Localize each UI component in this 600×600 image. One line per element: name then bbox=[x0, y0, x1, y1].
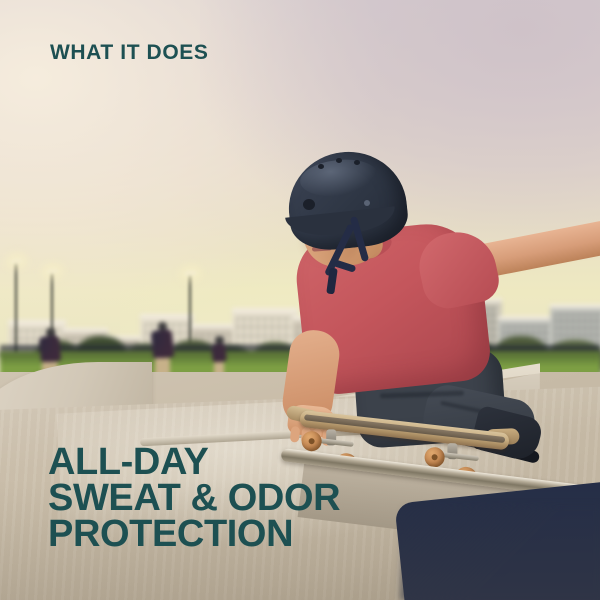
helmet-vent-icon bbox=[318, 164, 324, 169]
helmet-rivet-icon bbox=[364, 200, 370, 206]
page-title: ALL-DAYSWEAT & ODORPROTECTION bbox=[48, 444, 340, 552]
headline-line-3: PROTECTION bbox=[48, 516, 340, 552]
helmet-vent-icon bbox=[303, 199, 315, 210]
wheel-hub bbox=[431, 454, 438, 461]
ad-creative-canvas: WHAT IT DOES ALL-DAYSWEAT & ODORPROTECTI… bbox=[0, 0, 600, 600]
helmet-vent-icon bbox=[336, 158, 342, 163]
helmet-vent-icon bbox=[354, 160, 360, 165]
eyebrow-label: WHAT IT DOES bbox=[50, 42, 208, 63]
headline-line-1: ALL-DAY bbox=[48, 444, 340, 480]
headline-line-2: SWEAT & ODOR bbox=[48, 480, 340, 516]
